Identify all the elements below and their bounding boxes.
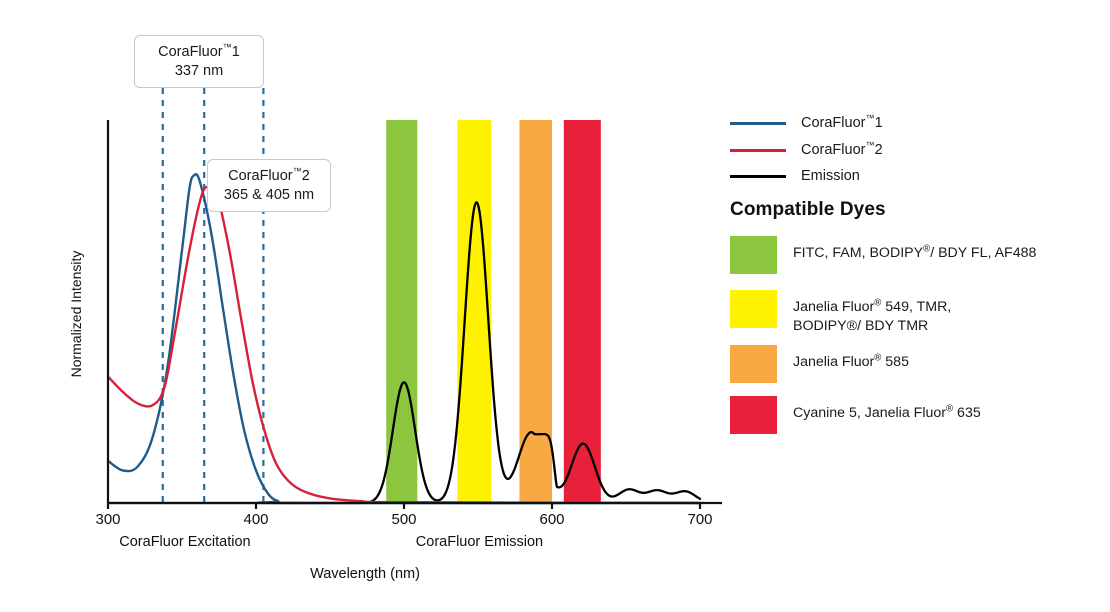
dye-row-2: Janelia Fluor® 549, TMR,BODIPY®/ BDY TMR — [730, 290, 951, 337]
range-label-excitation: CoraFluor Excitation — [55, 534, 315, 550]
callout-cf1-line2: 337 nm — [145, 62, 253, 81]
y-axis-title: Normalized Intensity — [68, 214, 84, 414]
trademark-icon: ™ — [865, 140, 874, 150]
registered-icon: ® — [874, 352, 881, 363]
dye-label: Janelia Fluor® 585 — [793, 345, 909, 372]
x-tick-label-500: 500 — [374, 511, 434, 528]
dye-color-swatch — [730, 236, 777, 274]
dye-color-swatch — [730, 345, 777, 383]
dye-label: FITC, FAM, BODIPY®/ BDY FL, AF488 — [793, 236, 1036, 263]
legend-series-2: CoraFluor™2 — [730, 139, 883, 161]
red-band — [564, 120, 601, 503]
registered-icon: ® — [874, 297, 881, 308]
legend-series-label: CoraFluor™1 — [801, 115, 883, 131]
range-label-emission: CoraFluor Emission — [349, 534, 609, 550]
x-tick-label-300: 300 — [78, 511, 138, 528]
dye-color-swatch — [730, 396, 777, 434]
dye-label: Janelia Fluor® 549, TMR,BODIPY®/ BDY TMR — [793, 290, 951, 337]
legend-series-label: CoraFluor™2 — [801, 142, 883, 158]
callout-cf2-line2: 365 & 405 nm — [218, 186, 320, 205]
x-tick-label-700: 700 — [670, 511, 730, 528]
dye-row-4: Cyanine 5, Janelia Fluor® 635 — [730, 396, 981, 434]
dye-row-3: Janelia Fluor® 585 — [730, 345, 909, 383]
dye-label-line1: Janelia Fluor® 585 — [793, 354, 909, 370]
legend-series-label: Emission — [801, 168, 860, 184]
legend-line-swatch — [730, 149, 786, 152]
dye-label-line2: BODIPY®/ BDY TMR — [793, 317, 951, 336]
chart-plot-area: CoraFluor™1 337 nm CoraFluor™2 365 & 405… — [0, 0, 730, 612]
legend-panel: CoraFluor™1CoraFluor™2Emission Compatibl… — [730, 0, 1110, 612]
registered-icon: ® — [923, 243, 930, 254]
orange-band — [519, 120, 552, 503]
x-axis-title: Wavelength (nm) — [0, 566, 730, 582]
callout-corafluor-1: CoraFluor™1 337 nm — [134, 35, 264, 88]
callout-corafluor-2: CoraFluor™2 365 & 405 nm — [207, 159, 331, 212]
x-tick-label-400: 400 — [226, 511, 286, 528]
legend-line-swatch — [730, 122, 786, 125]
legend-line-swatch — [730, 175, 786, 178]
yellow-band — [457, 120, 491, 503]
trademark-icon: ™ — [865, 113, 874, 123]
dye-label-line1: FITC, FAM, BODIPY®/ BDY FL, AF488 — [793, 245, 1036, 261]
legend-series-3: Emission — [730, 165, 860, 187]
trademark-icon: ™ — [223, 42, 232, 52]
dye-label-line1: Cyanine 5, Janelia Fluor® 635 — [793, 405, 981, 421]
dye-color-swatch — [730, 290, 777, 328]
dye-label: Cyanine 5, Janelia Fluor® 635 — [793, 396, 981, 423]
registered-icon: ® — [946, 403, 953, 414]
dye-label-line1: Janelia Fluor® 549, TMR, — [793, 299, 951, 315]
callout-cf1-line1: CoraFluor™1 — [158, 44, 240, 60]
trademark-icon: ™ — [293, 166, 302, 176]
callout-cf2-line1: CoraFluor™2 — [228, 168, 310, 184]
legend-series-1: CoraFluor™1 — [730, 112, 883, 134]
compatible-dyes-title: Compatible Dyes — [730, 199, 886, 221]
x-tick-label-600: 600 — [522, 511, 582, 528]
dye-row-1: FITC, FAM, BODIPY®/ BDY FL, AF488 — [730, 236, 1036, 274]
figure-root: CoraFluor™1 337 nm CoraFluor™2 365 & 405… — [0, 0, 1110, 612]
